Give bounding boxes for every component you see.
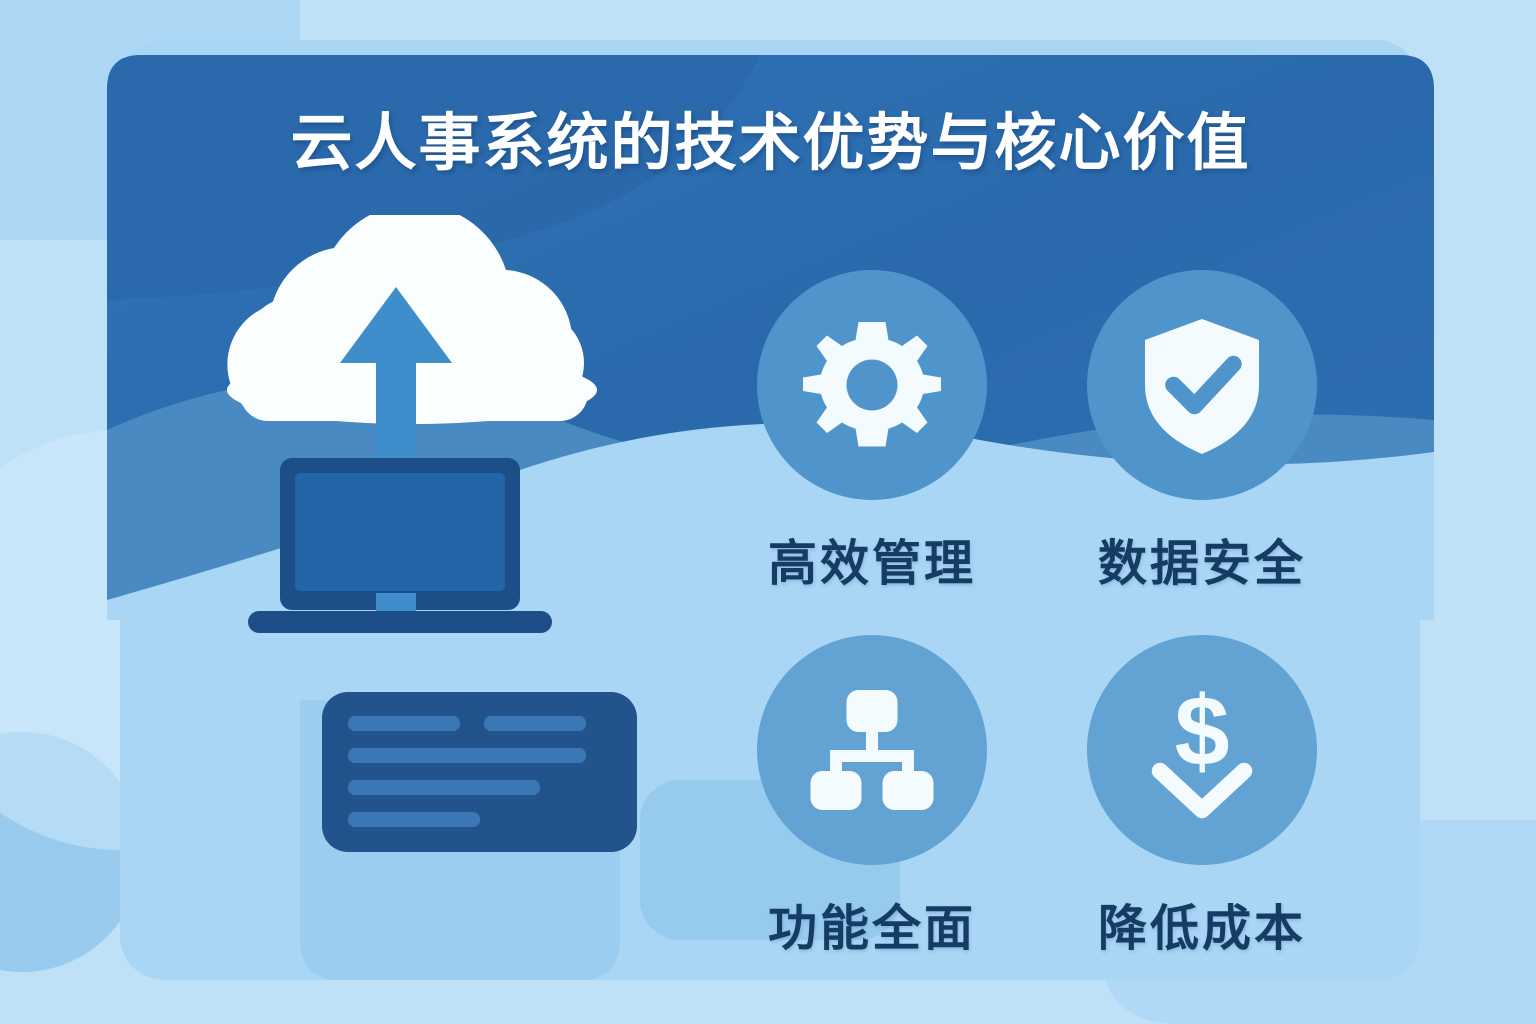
gear-icon [797, 310, 947, 460]
feature-label: 功能全面 [722, 889, 1022, 960]
laptop-computer [248, 458, 552, 633]
feature-label: 高效管理 [722, 524, 1022, 595]
hierarchy-org-chart-icon [797, 675, 947, 825]
infographic-canvas: 云人事系统的技术优势与核心价值 [0, 0, 1536, 1024]
page-title: 云人事系统的技术优势与核心价值 [107, 108, 1434, 179]
hierarchy-org-chart-icon-circle[interactable] [757, 635, 987, 865]
svg-text:$: $ [1174, 675, 1229, 786]
cloud-upload-illustration [180, 215, 650, 645]
dollar-down-arrow-icon: $ [1127, 675, 1277, 825]
gear-icon-circle[interactable] [757, 270, 987, 500]
dollar-down-arrow-icon-circle[interactable]: $ [1087, 635, 1317, 865]
feature-item-data-security[interactable]: 数据安全 [1052, 270, 1352, 595]
shield-check-icon-circle[interactable] [1087, 270, 1317, 500]
feature-grid: 高效管理 数据安全 [700, 270, 1400, 950]
feature-item-cost-reduction[interactable]: $ 降低成本 [1052, 635, 1352, 960]
shield-check-icon [1127, 310, 1277, 460]
feature-label: 数据安全 [1052, 524, 1352, 595]
document-card [322, 692, 637, 852]
feature-item-efficient-management[interactable]: 高效管理 [722, 270, 1022, 595]
feature-item-full-featured[interactable]: 功能全面 [722, 635, 1022, 960]
feature-label: 降低成本 [1052, 889, 1352, 960]
